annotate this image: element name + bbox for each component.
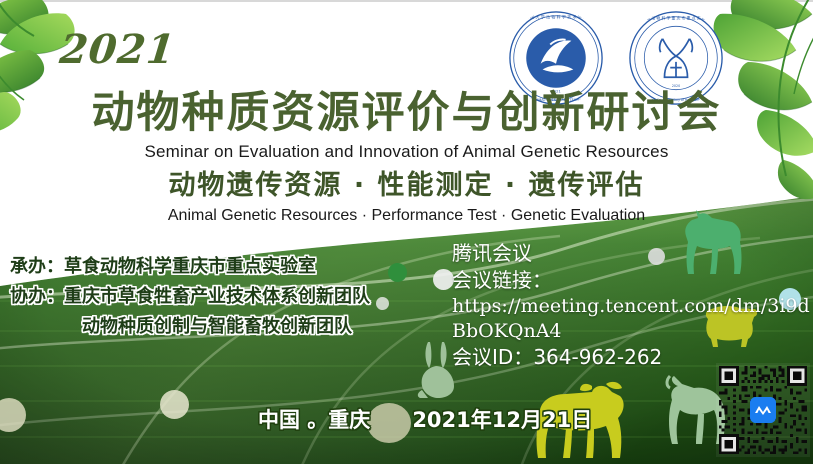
organizer-coorganizer: 协办：重庆市草食牲畜产业技术体系创新团队 [10, 282, 430, 312]
tencent-meeting-qr-code[interactable] [716, 362, 810, 458]
decor-bubble [433, 269, 454, 290]
year-label: 2021 [58, 26, 178, 73]
tencent-meeting-logo-icon [750, 397, 776, 423]
meeting-url-line1[interactable]: https://meeting.tencent.com/dm/3i9d [452, 294, 812, 319]
meeting-id-label: 会议ID： [452, 345, 533, 369]
organizer-team: 动物种质创制与智能畜牧创新团队 [10, 312, 430, 342]
meeting-id-value: 364-962-262 [533, 345, 662, 369]
headline-block: 动物种质资源评价与创新研讨会 Seminar on Evaluation and… [0, 88, 813, 227]
meeting-link-label: 会议链接： [452, 267, 812, 294]
organizer-host: 承办：草食动物科学重庆市重点实验室 [10, 252, 430, 282]
meeting-url-line2[interactable]: BbOKQnA4 [452, 319, 812, 344]
location-label: 中国 。重庆 [258, 404, 370, 434]
decor-bubble [160, 390, 189, 419]
page-subtitle: 动物遗传资源 · 性能测定 · 遗传评估 [0, 169, 813, 203]
meeting-info-block: 腾讯会议 会议链接： https://meeting.tencent.com/d… [452, 240, 812, 371]
conference-poster: 2021 西 南 大 学 动 物 科 学 技 术 学 院 COLLEGE OF … [0, 0, 813, 464]
footer-date-block: 中国 。重庆2021年12月21日 [258, 404, 592, 434]
svg-text:西 南 大 学 动 物 科 学 技 术 学 院: 西 南 大 学 动 物 科 学 技 术 学 院 [525, 14, 587, 20]
svg-text:草 食 动 物 科 学 重 庆 市 重 点 实 验 室: 草 食 动 物 科 学 重 庆 市 重 点 实 验 室 [641, 16, 711, 21]
organizers-block: 承办：草食动物科学重庆市重点实验室 协办：重庆市草食牲畜产业技术体系创新团队 动… [10, 252, 430, 342]
page-title-english: Seminar on Evaluation and Innovation of … [0, 140, 813, 163]
page-title: 动物种质资源评价与创新研讨会 [0, 88, 813, 138]
meeting-platform-label: 腾讯会议 [452, 240, 812, 267]
event-date: 2021年12月21日 [412, 404, 592, 434]
